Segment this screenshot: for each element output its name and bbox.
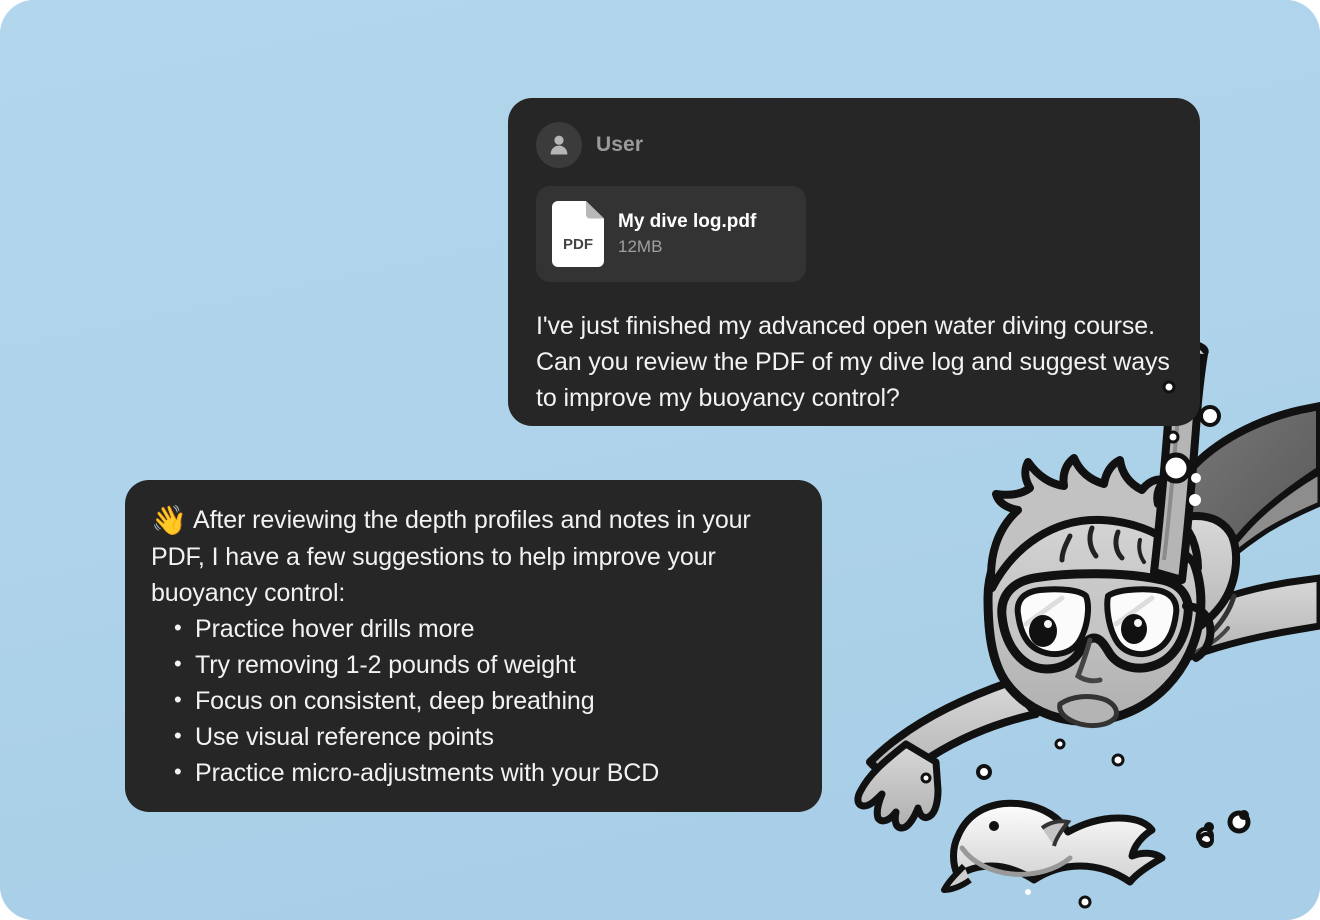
- file-size-label: 12MB: [618, 237, 756, 257]
- list-item: Try removing 1-2 pounds of weight: [195, 647, 794, 683]
- list-item: Practice micro-adjustments with your BCD: [195, 755, 794, 791]
- assistant-intro-text: After reviewing the depth profiles and n…: [151, 506, 751, 607]
- list-item: Focus on consistent, deep breathing: [195, 683, 794, 719]
- person-avatar-icon: [536, 122, 582, 168]
- user-message-bubble[interactable]: User PDF My dive log.pdf 12MB I've just …: [508, 98, 1200, 426]
- fish: [944, 803, 1162, 890]
- suggestion-list: Practice hover drills more Try removing …: [151, 611, 794, 791]
- svg-text:PDF: PDF: [563, 236, 593, 253]
- file-meta: My dive log.pdf 12MB: [618, 211, 756, 257]
- list-item: Use visual reference points: [195, 719, 794, 755]
- app-canvas: User PDF My dive log.pdf 12MB I've just …: [0, 0, 1320, 920]
- user-header: User: [536, 122, 1172, 168]
- assistant-message-bubble[interactable]: 👋After reviewing the depth profiles and …: [125, 480, 822, 812]
- user-name-label: User: [596, 133, 643, 157]
- assistant-intro-paragraph: 👋After reviewing the depth profiles and …: [151, 502, 794, 611]
- file-attachment-card[interactable]: PDF My dive log.pdf 12MB: [536, 186, 806, 282]
- list-item: Practice hover drills more: [195, 611, 794, 647]
- user-message-text: I've just finished my advanced open wate…: [536, 308, 1172, 416]
- pdf-file-icon: PDF: [552, 201, 604, 267]
- file-name-label: My dive log.pdf: [618, 211, 756, 233]
- waving-hand-emoji: 👋: [151, 505, 187, 537]
- air-bubbles-back: [922, 348, 1249, 907]
